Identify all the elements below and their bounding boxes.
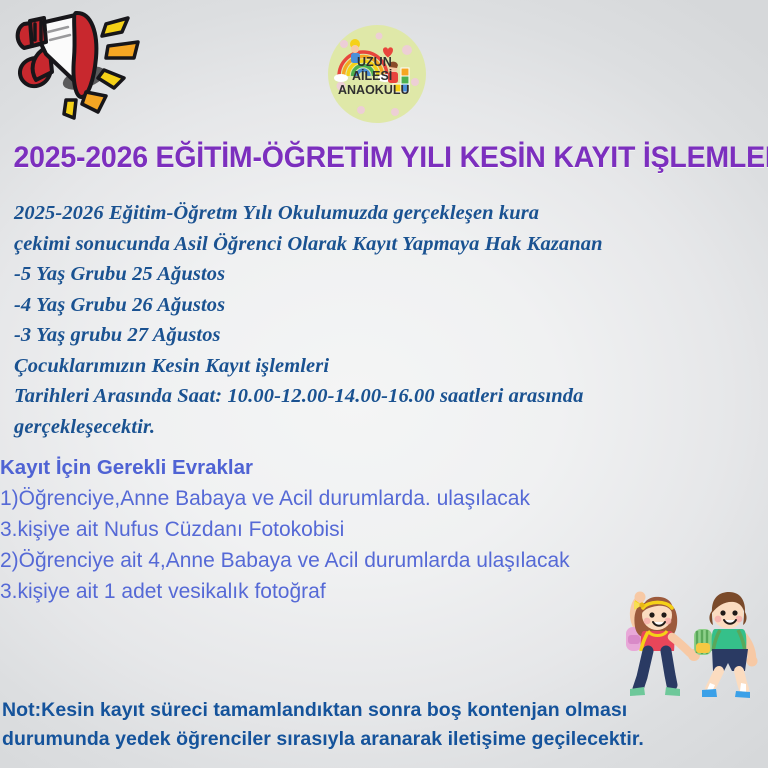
announcement-line: -4 Yaş Grubu 26 Ağustos [14, 290, 766, 321]
footer-note-line: durumunda yedek öğrenciler sırasıyla ara… [2, 725, 762, 754]
announcement-line: Çocuklarımızın Kesin Kayıt işlemleri [14, 351, 766, 382]
required-documents-line: 1)Öğrenciye,Anne Babaya ve Acil durumlar… [0, 483, 768, 514]
required-documents-heading: Kayıt İçin Gerekli Evraklar [0, 452, 768, 483]
footer-note: Not:Kesin kayıt süreci tamamlandıktan so… [2, 696, 762, 754]
announcement-line: çekimi sonucunda Asil Öğrenci Olarak Kay… [14, 229, 766, 260]
announcement-line: -3 Yaş grubu 27 Ağustos [14, 320, 766, 351]
footer-note-line: Not:Kesin kayıt süreci tamamlandıktan so… [2, 696, 762, 725]
announcement-line: Tarihleri Arasında Saat: 10.00-12.00-14.… [14, 381, 766, 412]
poster-canvas: UZUN AİLESİ ANAOKULU 2025-2026 EĞİTİM-ÖĞ… [0, 0, 768, 768]
announcement-line: 2025-2026 Eğitim-Öğretm Yılı Okulumuzda … [14, 198, 766, 229]
announcement-block: 2025-2026 Eğitim-Öğretm Yılı Okulumuzda … [14, 198, 766, 442]
required-documents-line: 3.kişiye ait Nufus Cüzdanı Fotokobisi [0, 514, 768, 545]
page-title: 2025-2026 EĞİTİM-ÖĞRETİM YILI KESİN KAYI… [13, 138, 754, 178]
announcement-line: gerçekleşecektir. [14, 412, 766, 443]
announcement-line: -5 Yaş Grubu 25 Ağustos [14, 259, 766, 290]
two-children-walking-icon [608, 565, 768, 710]
megaphone-icon [2, 0, 162, 120]
logo-line-3: ANAOKULU [338, 83, 410, 97]
school-logo-icon: UZUN AİLESİ ANAOKULU [327, 24, 427, 124]
logo-line-2: AİLESİ [352, 68, 392, 83]
logo-line-1: UZUN [357, 55, 392, 69]
